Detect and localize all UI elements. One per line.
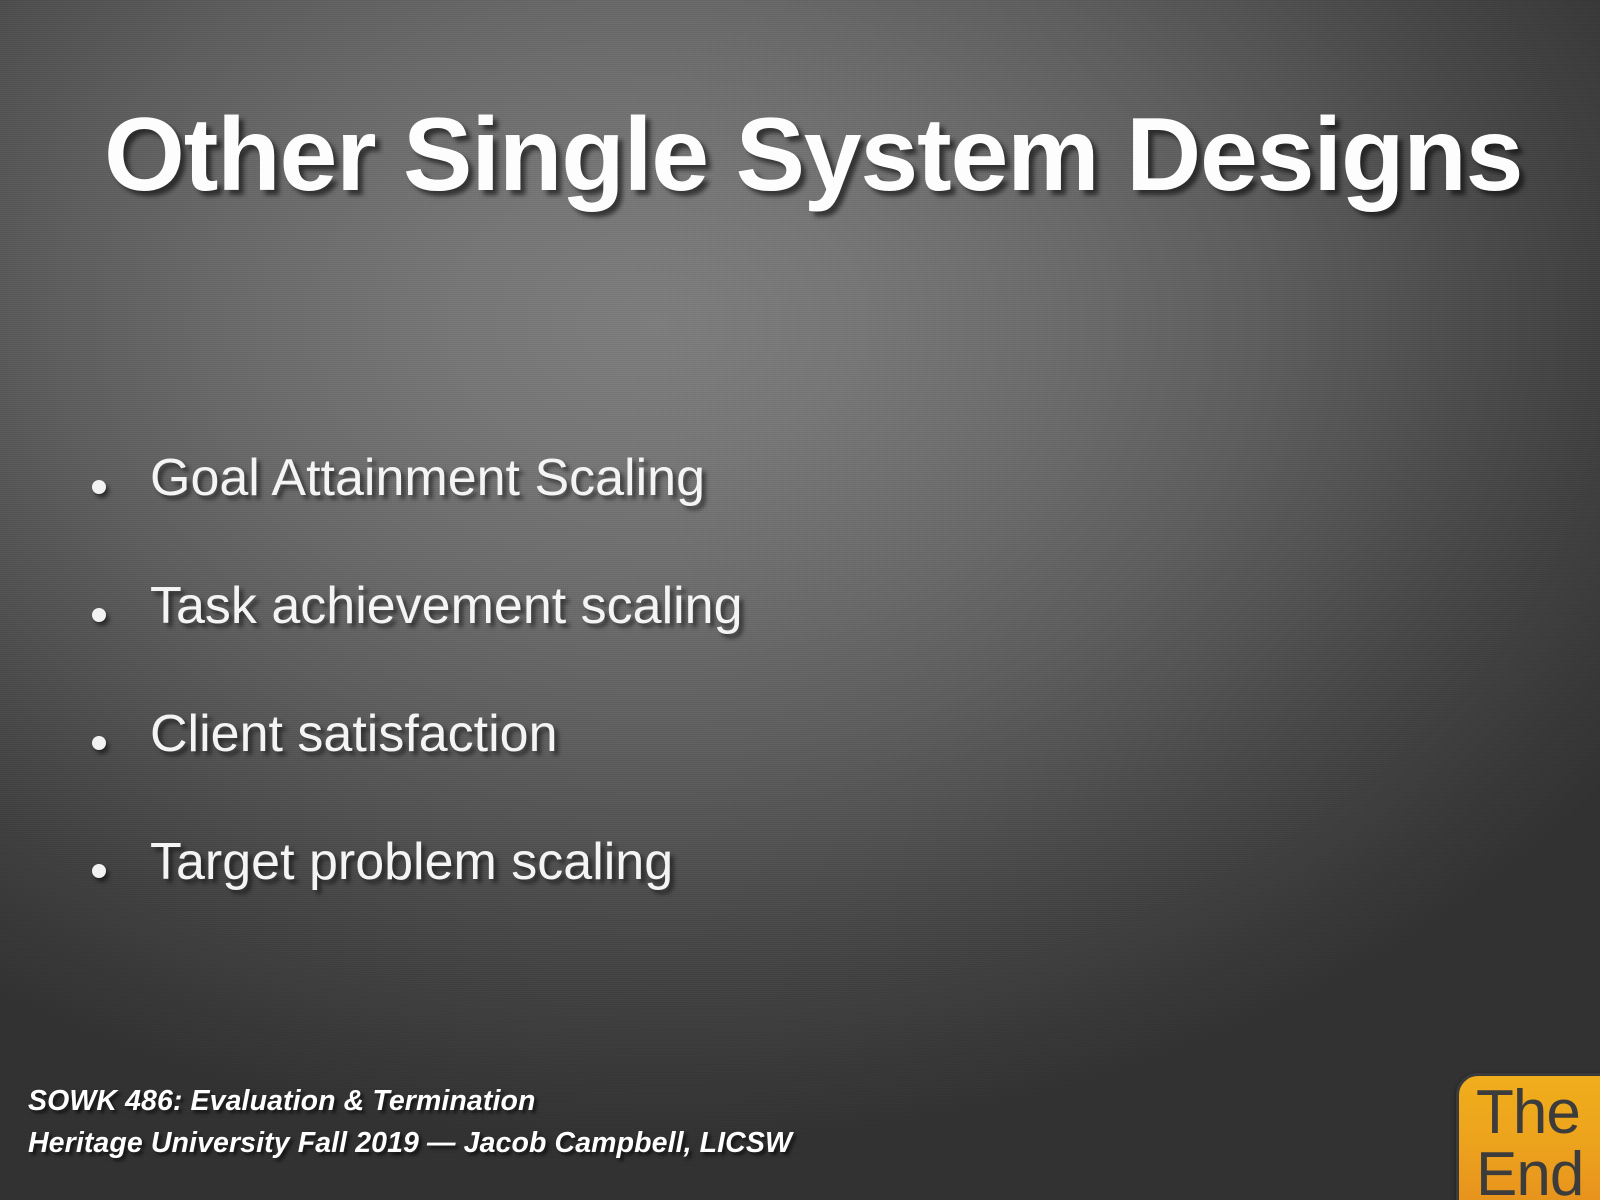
bullet-point-icon [92, 480, 106, 494]
list-item: Task achievement scaling [92, 580, 1492, 708]
the-end-badge: The End [1456, 1073, 1600, 1200]
footer-institution-line: Heritage University Fall 2019 — Jacob Ca… [28, 1122, 792, 1164]
bullet-point-icon [92, 864, 106, 878]
slide-footer: SOWK 486: Evaluation & Termination Herit… [28, 1080, 792, 1164]
list-item: Target problem scaling [92, 836, 1492, 964]
bullet-item-label: Client satisfaction [150, 708, 558, 760]
bullet-point-icon [92, 736, 106, 750]
bullet-item-label: Task achievement scaling [150, 580, 743, 632]
bullet-point-icon [92, 608, 106, 622]
bullet-list: Goal Attainment Scaling Task achievement… [92, 452, 1492, 964]
the-end-badge-line1: The [1476, 1082, 1580, 1144]
slide-title: Other Single System Designs [104, 102, 1524, 208]
presentation-slide: Other Single System Designs Goal Attainm… [0, 0, 1600, 1200]
bullet-item-label: Goal Attainment Scaling [150, 452, 705, 504]
footer-course-line: SOWK 486: Evaluation & Termination [28, 1080, 792, 1122]
list-item: Client satisfaction [92, 708, 1492, 836]
list-item: Goal Attainment Scaling [92, 452, 1492, 580]
the-end-badge-line2: End [1476, 1144, 1583, 1200]
bullet-item-label: Target problem scaling [150, 836, 673, 888]
